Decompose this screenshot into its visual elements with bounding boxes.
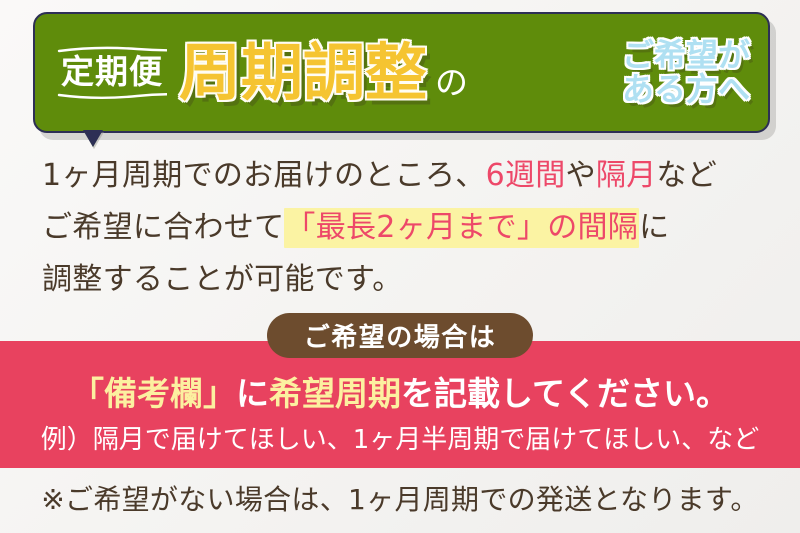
body-line-2: ご希望に合わせて「最長2ヶ月まで」の間隔に: [42, 202, 762, 254]
header-side-note-line1: ご希望が: [622, 39, 750, 72]
speech-bubble-tail-icon: [84, 131, 102, 147]
title-particle: の: [435, 56, 468, 104]
header-side-note: ご希望が ある方へ: [622, 39, 750, 106]
body-line2-part-a: ご希望に合わせて: [42, 210, 284, 245]
subscription-badge: 定期便: [57, 45, 167, 100]
subscription-badge-label: 定期便: [61, 55, 163, 88]
body-line1-part-a: 1ヶ月周期でのお届けのところ、: [42, 158, 486, 193]
header-speech-bubble: 定期便 周期調整 の ご希望が ある方へ: [33, 12, 770, 133]
page-title: 周期調整: [179, 42, 427, 104]
body-line-1: 1ヶ月周期でのお届けのところ、6週間や隔月など: [42, 150, 762, 202]
instruction-part-b: に: [236, 374, 269, 413]
header-side-note-line2: ある方へ: [622, 73, 750, 106]
body-line1-part-e: など: [657, 158, 718, 193]
request-case-pill: ご希望の場合は: [267, 313, 533, 358]
footnote-default-cycle: ※ご希望がない場合は、1ヶ月周期での発送となります。: [0, 478, 800, 518]
instruction-headline: 「備考欄」に希望周期を記載してください。: [0, 367, 800, 415]
promo-banner: 定期便 周期調整 の ご希望が ある方へ 1ヶ月周期でのお届けのところ、6週間や…: [0, 0, 800, 533]
instruction-emphasis-remarks: 「備考欄」: [71, 374, 236, 413]
wavy-rule-top-icon: [57, 45, 167, 54]
body-line1-emphasis-bimonthly: 隔月: [596, 158, 657, 193]
instruction-band: 「備考欄」に希望周期を記載してください。 例）隔月で届けてほしい、1ヶ月半周期で…: [0, 341, 800, 468]
body-copy: 1ヶ月周期でのお届けのところ、6週間や隔月など ご希望に合わせて「最長2ヶ月まで…: [42, 150, 762, 306]
body-line2-highlight-maxinterval: 「最長2ヶ月まで」の間隔: [284, 208, 639, 248]
instruction-emphasis-cycle: 希望周期: [269, 374, 401, 413]
body-line1-part-c: や: [566, 158, 596, 193]
body-line2-part-c: に: [639, 210, 669, 245]
wavy-rule-bottom-icon: [57, 91, 167, 100]
request-case-pill-label: ご希望の場合は: [304, 317, 497, 354]
instruction-part-d: を記載してください。: [401, 374, 729, 413]
body-line1-emphasis-6weeks: 6週間: [486, 158, 566, 193]
body-line-3: 調整することが可能です。: [42, 254, 762, 306]
instruction-examples: 例）隔月で届けてほしい、1ヶ月半周期で届けてほしい、など: [0, 419, 800, 456]
